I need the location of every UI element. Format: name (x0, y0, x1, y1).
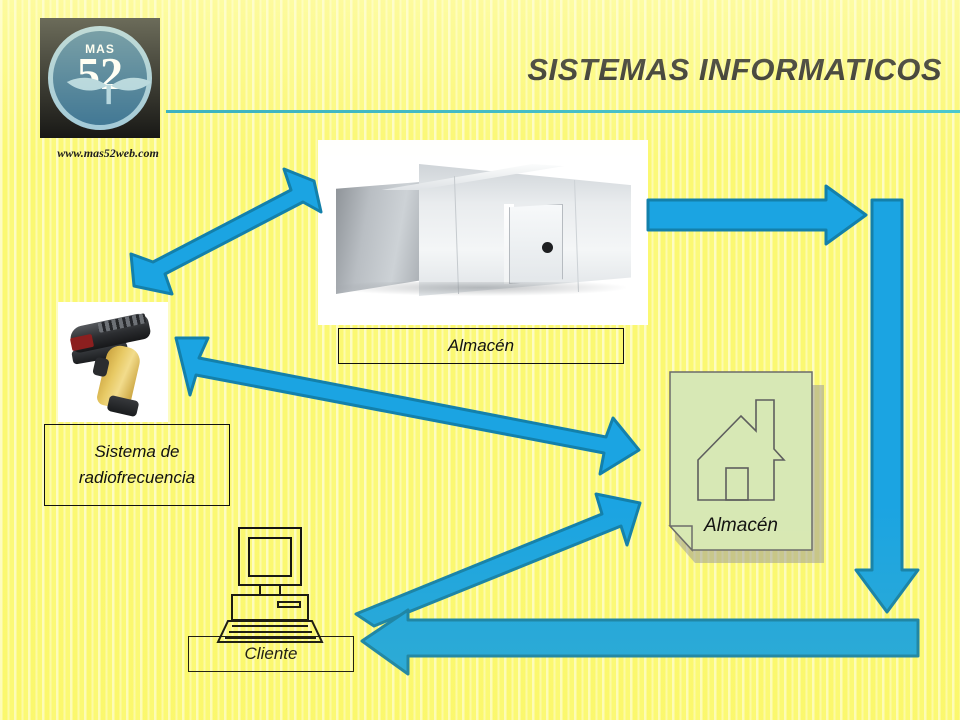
arrow-right-channel-down (856, 200, 918, 612)
arrow-client-document (356, 494, 640, 626)
arrow-layer (0, 0, 960, 720)
arrow-bottom-to-client (362, 610, 918, 674)
arrow-warehouse-right (648, 186, 866, 244)
slide-canvas: MAS 52 www.mas52web.com SISTEMAS INFORMA… (0, 0, 960, 720)
arrow-scanner-document (176, 338, 639, 474)
arrow-scanner-warehouse (131, 169, 321, 294)
